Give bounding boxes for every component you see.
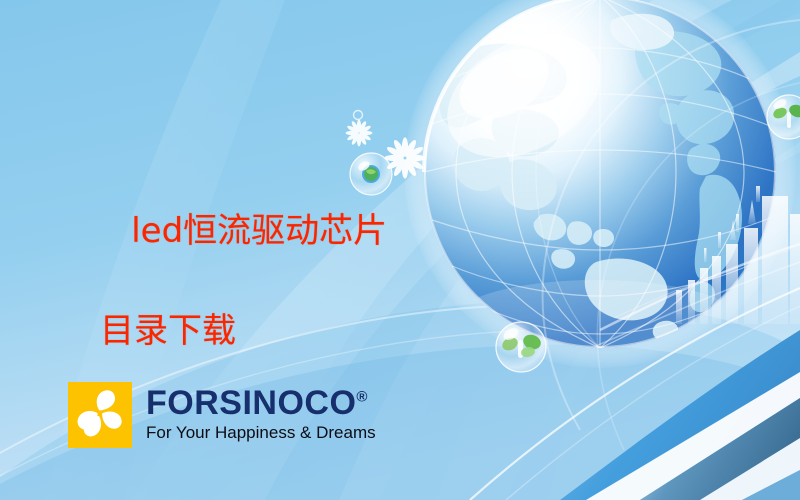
logo-wordmark-text: FORSINOCO [146,384,356,422]
headline-line-1: led恒流驱动芯片 [131,211,387,251]
logo-tagline: For Your Happiness & Dreams [146,423,376,443]
pinwheel-icon [68,382,132,448]
logo-text-block: FORSINOCO® For Your Happiness & Dreams [146,382,376,443]
banner-canvas: led恒流驱动芯片 目录下载 FORSINOCO® For Your Happi… [0,0,800,500]
brand-logo[interactable]: FORSINOCO® For Your Happiness & Dreams [68,382,376,448]
registered-trademark-symbol: ® [356,389,368,406]
headline-line-2: 目录下载 [88,308,508,354]
forsinoco-pinwheel-mark [68,382,132,448]
logo-wordmark: FORSINOCO® [146,386,376,420]
